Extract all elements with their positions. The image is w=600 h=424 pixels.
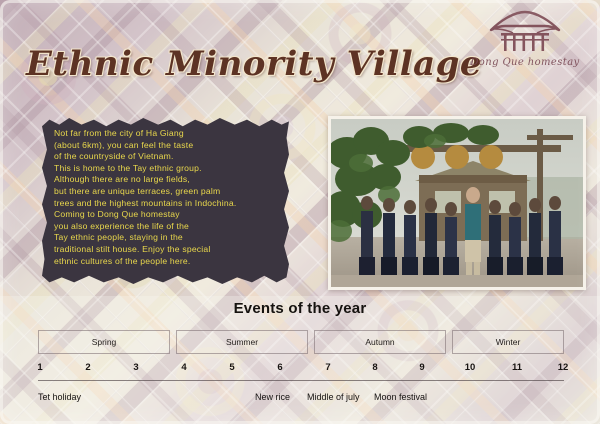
story-line: Coming to Dong Que homestay: [54, 209, 277, 221]
month-9: 9: [411, 362, 433, 373]
season-row: Spring Summer Autumn Winter: [0, 330, 600, 354]
brand-logo[interactable]: Dong Que homestay: [464, 8, 586, 80]
page-title: Ethnic Minority Village: [26, 44, 482, 84]
story-line: you also experience the life of the: [54, 221, 277, 233]
village-group-photo: [328, 116, 586, 290]
month-2: 2: [77, 362, 99, 373]
event-middle-of-july[interactable]: Middle of july: [307, 392, 360, 402]
event-marker-row: Tet holiday New rice Middle of july Moon…: [0, 392, 600, 408]
month-8: 8: [364, 362, 386, 373]
event-moon-festival[interactable]: Moon festival: [374, 392, 427, 402]
season-label: Spring: [92, 337, 117, 347]
season-label: Autumn: [365, 337, 394, 347]
poster-canvas: Ethnic Minority Village Dong Que homesta…: [0, 0, 600, 424]
month-7: 7: [317, 362, 339, 373]
story-line: Although there are no large fields,: [54, 174, 277, 186]
season-spring[interactable]: Spring: [38, 330, 170, 354]
story-line: ethnic cultures of the people here.: [54, 256, 277, 268]
story-line: of the countryside of Vietnam.: [54, 151, 277, 163]
brand-name: Dong Que homestay: [464, 57, 586, 68]
story-line: This is home to the Tay ethnic group.: [54, 163, 277, 175]
month-4: 4: [173, 362, 195, 373]
month-5: 5: [221, 362, 243, 373]
month-axis-labels: 1 2 3 4 5 6 7 8 9 10 11 12: [0, 362, 600, 380]
month-6: 6: [269, 362, 291, 373]
season-autumn[interactable]: Autumn: [314, 330, 446, 354]
photo-illustration: [331, 119, 583, 287]
month-12: 12: [552, 362, 574, 373]
story-line: Tay ethnic people, staying in the: [54, 232, 277, 244]
month-11: 11: [506, 362, 528, 373]
events-heading: Events of the year: [0, 300, 600, 317]
season-summer[interactable]: Summer: [176, 330, 308, 354]
season-winter[interactable]: Winter: [452, 330, 564, 354]
story-line: Not far from the city of Ha Giang: [54, 128, 277, 140]
story-line: but there are unique terraces, green pal…: [54, 186, 277, 198]
season-label: Winter: [496, 337, 521, 347]
story-text-block: Not far from the city of Ha Giang (about…: [42, 118, 289, 284]
month-3: 3: [125, 362, 147, 373]
month-1: 1: [29, 362, 51, 373]
stilt-house-icon: [483, 8, 567, 56]
timeline-axis: [38, 380, 564, 381]
story-line: traditional stilt house. Enjoy the speci…: [54, 244, 277, 256]
event-new-rice[interactable]: New rice: [255, 392, 290, 402]
event-tet-holiday[interactable]: Tet holiday: [38, 392, 81, 402]
story-line: (about 6km), you can feel the taste: [54, 140, 277, 152]
story-line: trees and the highest mountains in Indoc…: [54, 198, 277, 210]
month-10: 10: [459, 362, 481, 373]
season-label: Summer: [226, 337, 258, 347]
